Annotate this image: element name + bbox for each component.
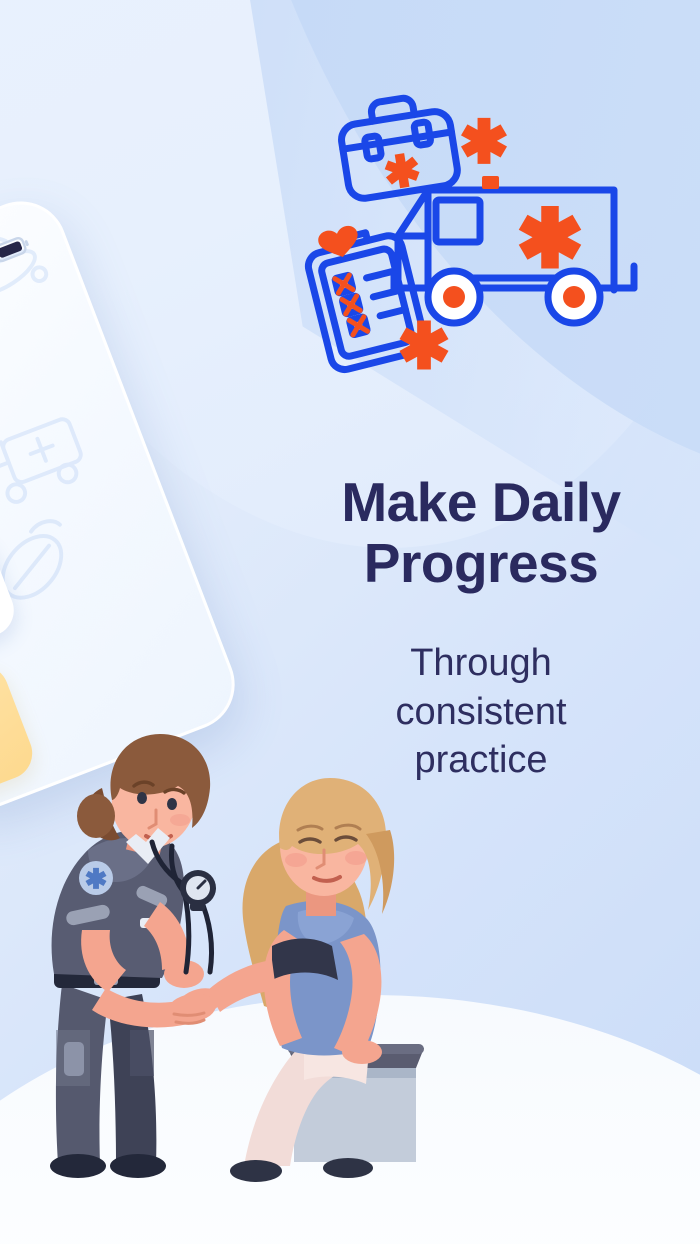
- subhead-line-2: consistent: [395, 691, 566, 733]
- star-of-life-icon-ambulance: [519, 206, 582, 269]
- headline-line-1: Make Daily: [341, 471, 620, 533]
- page-title: Make Daily Progress: [300, 472, 662, 593]
- hero-medical-icons: [282, 92, 642, 384]
- ambulance-wheel-hub-right: [563, 286, 585, 308]
- ambulance-wheel-hub-left: [443, 286, 465, 308]
- star-of-life-icon-top: [461, 118, 507, 164]
- ambulance-icon: [394, 190, 634, 323]
- subhead-line-1: Through: [410, 642, 552, 684]
- promo-screen: Days Streak WED 20: [0, 0, 700, 1244]
- ambulance-beacon-icon: [482, 176, 499, 189]
- medical-bag-icon: [336, 92, 459, 201]
- headline-line-2: Progress: [364, 532, 598, 594]
- star-of-life-icon-bag: [383, 151, 422, 190]
- paramedic-character: [50, 734, 218, 1178]
- paramedic-taking-blood-pressure-illustration: [48, 730, 468, 1200]
